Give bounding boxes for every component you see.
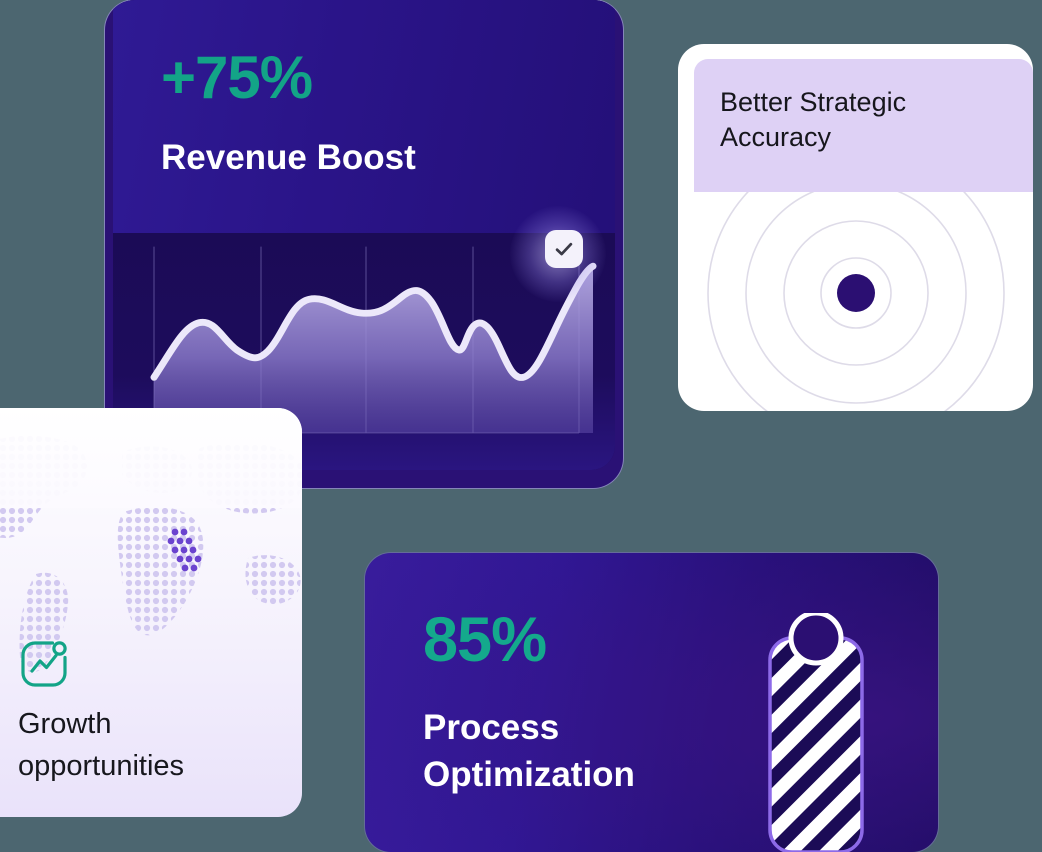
concentric-rings-icon bbox=[678, 192, 1033, 411]
process-metric-label: Process Optimization bbox=[423, 705, 635, 798]
chart-activity-icon bbox=[18, 638, 70, 690]
revenue-card-inner: +75% Revenue Boost bbox=[113, 0, 615, 470]
check-icon[interactable] bbox=[545, 230, 583, 268]
process-label-line-2: Optimization bbox=[423, 752, 635, 799]
revenue-card-header: +75% Revenue Boost bbox=[113, 0, 615, 233]
revenue-metric-label: Revenue Boost bbox=[161, 140, 416, 175]
hero-graphic-stage: +75% Revenue Boost bbox=[0, 0, 1042, 852]
process-optimization-card[interactable]: 85% Process Optimization bbox=[365, 553, 938, 852]
striped-progress-bar bbox=[763, 613, 938, 852]
growth-title: Growth opportunities bbox=[18, 703, 280, 787]
bar-handle bbox=[791, 613, 841, 663]
target-center-dot bbox=[837, 274, 875, 312]
process-label-line-1: Process bbox=[423, 705, 635, 752]
strategic-accuracy-card[interactable]: Better Strategic Accuracy bbox=[678, 44, 1033, 411]
process-metric-value: 85% bbox=[423, 609, 546, 672]
accuracy-card-header: Better Strategic Accuracy bbox=[694, 59, 1033, 192]
revenue-metric-value: +75% bbox=[161, 48, 312, 108]
accuracy-title: Better Strategic Accuracy bbox=[720, 85, 1009, 154]
striped-bar-icon bbox=[763, 613, 938, 852]
accuracy-target-graphic bbox=[678, 192, 1033, 411]
growth-opportunities-card[interactable]: Growth opportunities bbox=[0, 408, 302, 817]
